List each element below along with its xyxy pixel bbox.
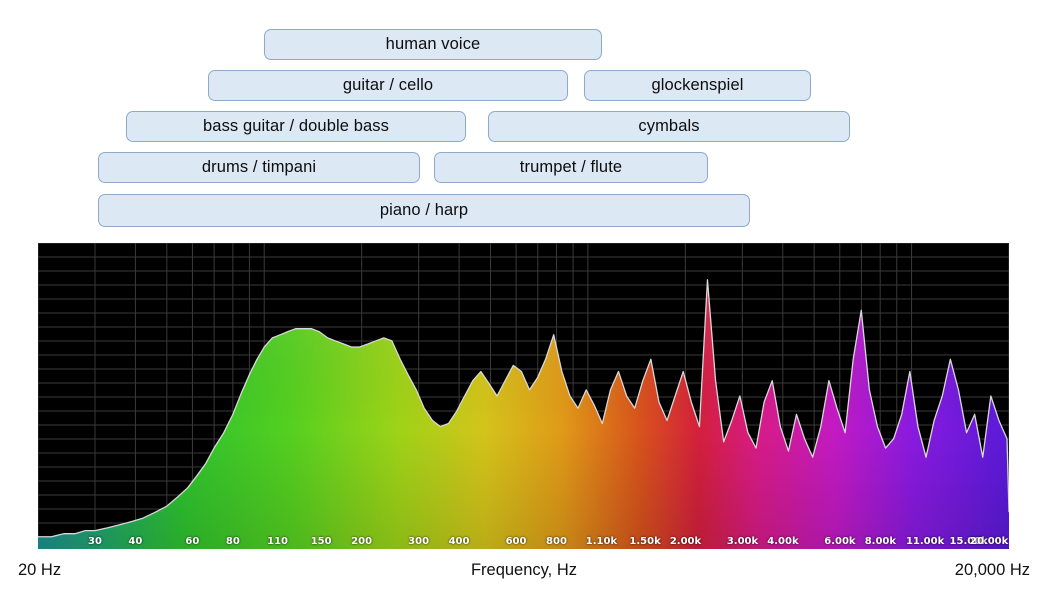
axis-max-label: 20,000 Hz	[955, 562, 1030, 579]
range-box-cymbals[interactable]: cymbals	[488, 111, 850, 142]
range-box-human-voice[interactable]: human voice	[264, 29, 602, 60]
range-box-label: trumpet / flute	[520, 159, 622, 176]
axis-tick-110: 110	[267, 537, 288, 547]
range-box-guitar-cello[interactable]: guitar / cello	[208, 70, 568, 101]
axis-tick-1100k: 11.00k	[906, 537, 944, 547]
instrument-range-labels: human voiceguitar / celloglockenspielbas…	[0, 0, 1048, 236]
range-box-bass-guitar[interactable]: bass guitar / double bass	[126, 111, 466, 142]
axis-tick-400: 400	[449, 537, 470, 547]
range-box-trumpet-flute[interactable]: trumpet / flute	[434, 152, 708, 183]
axis-tick-600: 600	[506, 537, 527, 547]
axis-tick-2000k: 20.00k	[970, 537, 1008, 547]
axis-tick-60: 60	[185, 537, 199, 547]
range-box-drums-timpani[interactable]: drums / timpani	[98, 152, 420, 183]
range-box-label: drums / timpani	[202, 159, 316, 176]
axis-caption-row: 20 Hz Frequency, Hz 20,000 Hz	[0, 562, 1048, 592]
frequency-axis-ticks: 304060801101502003004006008001.10k1.50k2…	[38, 531, 1009, 549]
spectrum-shading	[38, 280, 1009, 549]
axis-tick-600k: 6.00k	[824, 537, 855, 547]
range-box-piano-harp[interactable]: piano / harp	[98, 194, 750, 227]
axis-tick-400k: 4.00k	[767, 537, 798, 547]
axis-tick-200k: 2.00k	[670, 537, 701, 547]
axis-tick-150: 150	[311, 537, 332, 547]
axis-tick-300: 300	[408, 537, 429, 547]
range-box-label: bass guitar / double bass	[203, 118, 389, 135]
range-box-glockenspiel[interactable]: glockenspiel	[584, 70, 811, 101]
axis-tick-110k: 1.10k	[586, 537, 617, 547]
spectrum-area-plot	[38, 243, 1009, 549]
range-box-label: glockenspiel	[651, 77, 743, 94]
axis-title-label: Frequency, Hz	[0, 562, 1048, 579]
range-box-label: cymbals	[638, 118, 699, 135]
range-box-label: guitar / cello	[343, 77, 433, 94]
axis-tick-150k: 1.50k	[629, 537, 660, 547]
axis-tick-40: 40	[128, 537, 142, 547]
range-box-label: piano / harp	[380, 202, 468, 219]
frequency-spectrum-chart: 304060801101502003004006008001.10k1.50k2…	[38, 243, 1009, 549]
axis-tick-200: 200	[351, 537, 372, 547]
axis-tick-800k: 8.00k	[865, 537, 896, 547]
range-box-label: human voice	[386, 36, 481, 53]
axis-tick-30: 30	[88, 537, 102, 547]
axis-tick-300k: 3.00k	[727, 537, 758, 547]
axis-tick-800: 800	[546, 537, 567, 547]
axis-tick-80: 80	[226, 537, 240, 547]
